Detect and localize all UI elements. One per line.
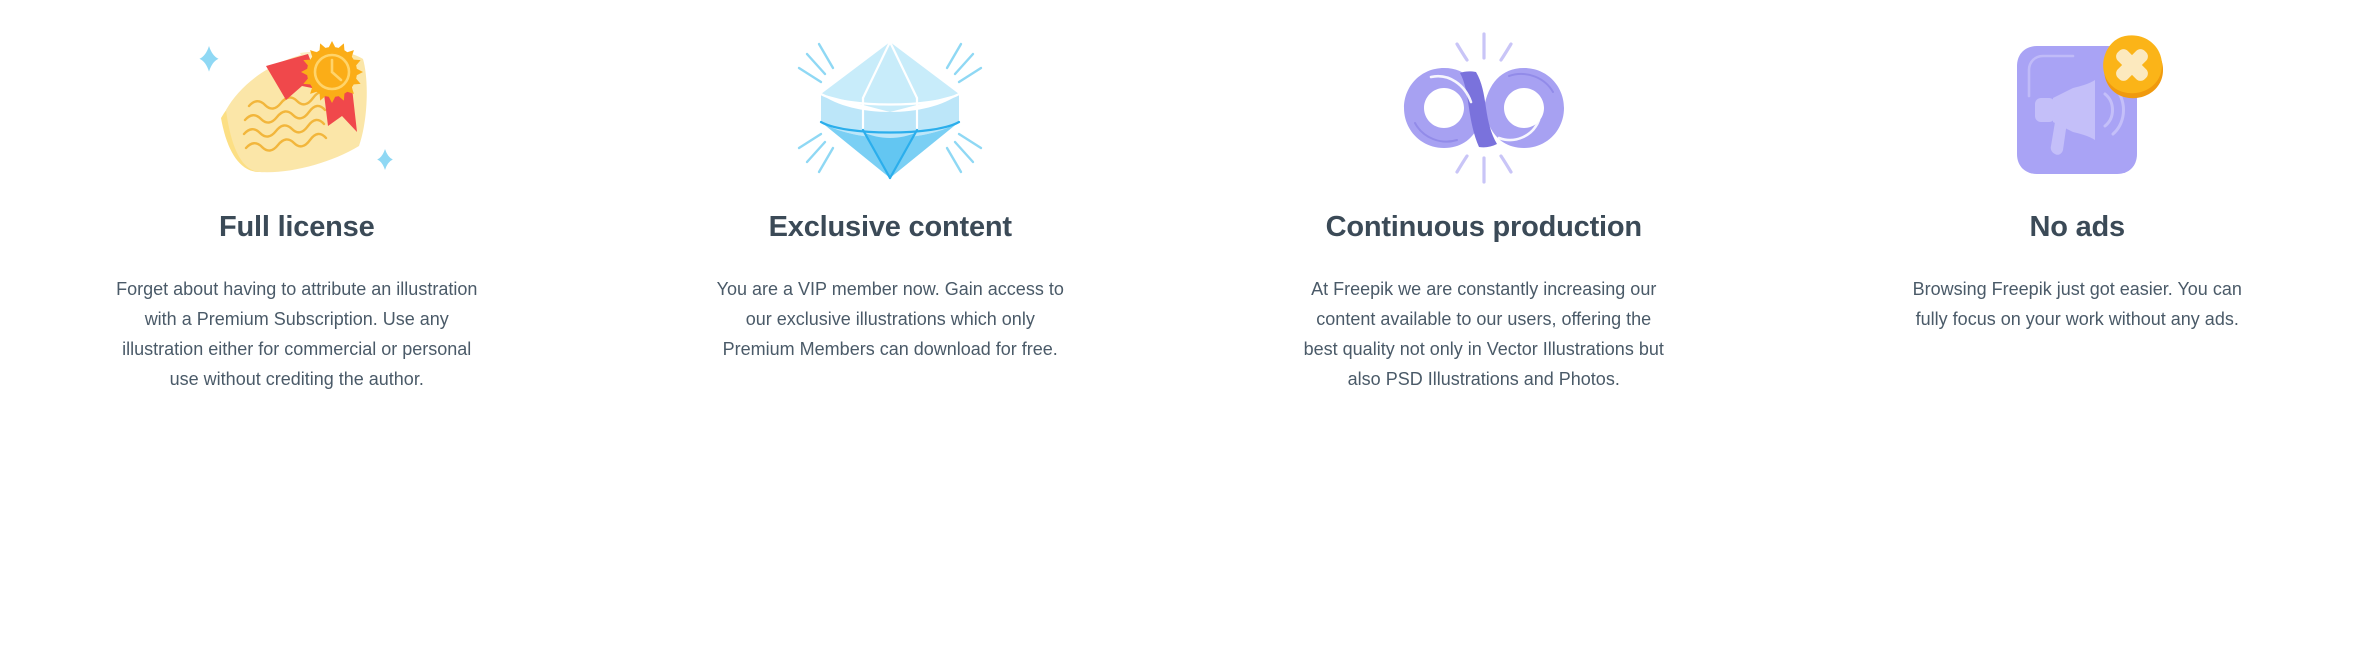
benefit-title: Exclusive content bbox=[769, 210, 1012, 244]
benefit-card-full-license: Full license Forget about having to attr… bbox=[0, 0, 594, 650]
benefit-card-no-ads: No ads Browsing Freepik just got easier.… bbox=[1781, 0, 2374, 650]
benefit-description: You are a VIP member now. Gain access to… bbox=[710, 274, 1070, 364]
no-ads-megaphone-icon bbox=[1799, 28, 2357, 188]
benefit-card-exclusive-content: Exclusive content You are a VIP member n… bbox=[594, 0, 1188, 650]
benefit-title: No ads bbox=[2030, 210, 2126, 244]
infinity-icon bbox=[1205, 28, 1763, 188]
benefits-row: Full license Forget about having to attr… bbox=[0, 0, 2374, 650]
diamond-icon bbox=[612, 28, 1170, 188]
benefit-description: Browsing Freepik just got easier. You ca… bbox=[1901, 274, 2253, 334]
benefit-title: Continuous production bbox=[1326, 210, 1642, 244]
benefit-title: Full license bbox=[219, 210, 375, 244]
benefit-card-continuous-production: Continuous production At Freepik we are … bbox=[1187, 0, 1781, 650]
benefit-description: Forget about having to attribute an illu… bbox=[112, 274, 482, 394]
benefit-description: At Freepik we are constantly increasing … bbox=[1298, 274, 1670, 394]
certificate-ribbon-icon bbox=[18, 28, 576, 188]
